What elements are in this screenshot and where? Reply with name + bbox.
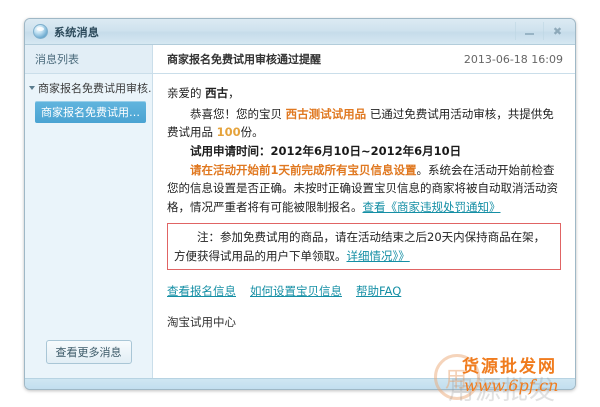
system-message-window: 系统消息 ✖ 消息列表 商家报名免费试用审核通过提醒 2013-06-18 16… (24, 18, 576, 390)
action-links-row: 查看报名信息 如何设置宝贝信息 帮助FAQ (167, 282, 561, 301)
close-icon: ✖ (553, 26, 562, 37)
help-faq-link[interactable]: 帮助FAQ (356, 282, 401, 301)
note-detail-link[interactable]: 详细情况》》 (347, 249, 410, 263)
product-name: 西古测试试用品 (286, 107, 367, 121)
sidebar-tree-parent-label: 商家报名免费试用审核... (38, 80, 152, 96)
blue-orb-icon (33, 24, 48, 39)
message-list-sidebar: 商家报名免费试用审核... 商家报名免费试用审核... 查看更多消息 (25, 74, 153, 378)
close-button[interactable]: ✖ (543, 22, 571, 40)
window-controls: ✖ (515, 21, 571, 41)
sample-count: 100 (217, 125, 241, 139)
apply-time-value: 2012年6月10日~2012年6月10日 (271, 144, 462, 158)
apply-time-label: 试用申请时间： (190, 144, 271, 158)
congrats-paragraph: 恭喜您！您的宝贝 西古测试试用品 已通过免费试用活动审核，共提供免费试用品 10… (167, 105, 561, 142)
message-title: 商家报名免费试用审核通过提醒 (167, 51, 321, 67)
window-titlebar: 系统消息 ✖ (25, 19, 575, 45)
how-to-setup-link[interactable]: 如何设置宝贝信息 (250, 282, 342, 301)
congrats-text-a: 恭喜您！您的宝贝 (190, 107, 282, 121)
message-date: 2013-06-18 16:09 (464, 53, 563, 66)
warning-paragraph: 请在活动开始前1天前完成所有宝贝信息设置。系统会在活动开始前检查您的信息设置是否… (167, 161, 561, 217)
message-list-header: 消息列表 (25, 45, 153, 73)
view-registration-link[interactable]: 查看报名信息 (167, 282, 236, 301)
sidebar-item-message-selected[interactable]: 商家报名免费试用审核... (35, 101, 146, 123)
header-row: 消息列表 商家报名免费试用审核通过提醒 2013-06-18 16:09 (25, 45, 575, 74)
apply-time-paragraph: 试用申请时间：2012年6月10日~2012年6月10日 (167, 142, 561, 161)
window-bottom-strip (25, 378, 575, 390)
sidebar-tree-parent[interactable]: 商家报名免费试用审核... (25, 78, 152, 98)
message-content: 亲爱的 西古， 恭喜您！您的宝贝 西古测试试用品 已通过免费试用活动审核，共提供… (153, 74, 575, 378)
greeting-line: 亲爱的 西古， (167, 84, 561, 103)
greeting-name: 西古 (205, 86, 228, 100)
more-button-wrap: 查看更多消息 (25, 340, 152, 364)
congrats-text-c: 份。 (241, 125, 264, 139)
minimize-icon (525, 33, 534, 35)
greeting-prefix: 亲爱的 (167, 86, 202, 100)
note-paragraph: 注：参加免费试用的商品，请在活动结束之后20天内保持商品在架，方便获得试用品的用… (174, 228, 554, 265)
warning-text: 请在活动开始前1天前完成所有宝贝信息设置 (190, 163, 417, 177)
note-box: 注：参加免费试用的商品，请在活动结束之后20天内保持商品在架，方便获得试用品的用… (167, 223, 561, 270)
view-more-messages-button[interactable]: 查看更多消息 (46, 340, 132, 364)
caret-down-icon[interactable] (29, 86, 35, 90)
signature-text: 淘宝试用中心 (167, 313, 561, 332)
window-body: 商家报名免费试用审核... 商家报名免费试用审核... 查看更多消息 亲爱的 西… (25, 74, 575, 378)
message-header: 商家报名免费试用审核通过提醒 2013-06-18 16:09 (153, 45, 575, 73)
penalty-notice-link[interactable]: 查看《商家违规处罚通知》 (363, 200, 501, 214)
greeting-suffix: ， (228, 86, 240, 100)
minimize-button[interactable] (515, 22, 543, 40)
window-title: 系统消息 (54, 24, 99, 40)
